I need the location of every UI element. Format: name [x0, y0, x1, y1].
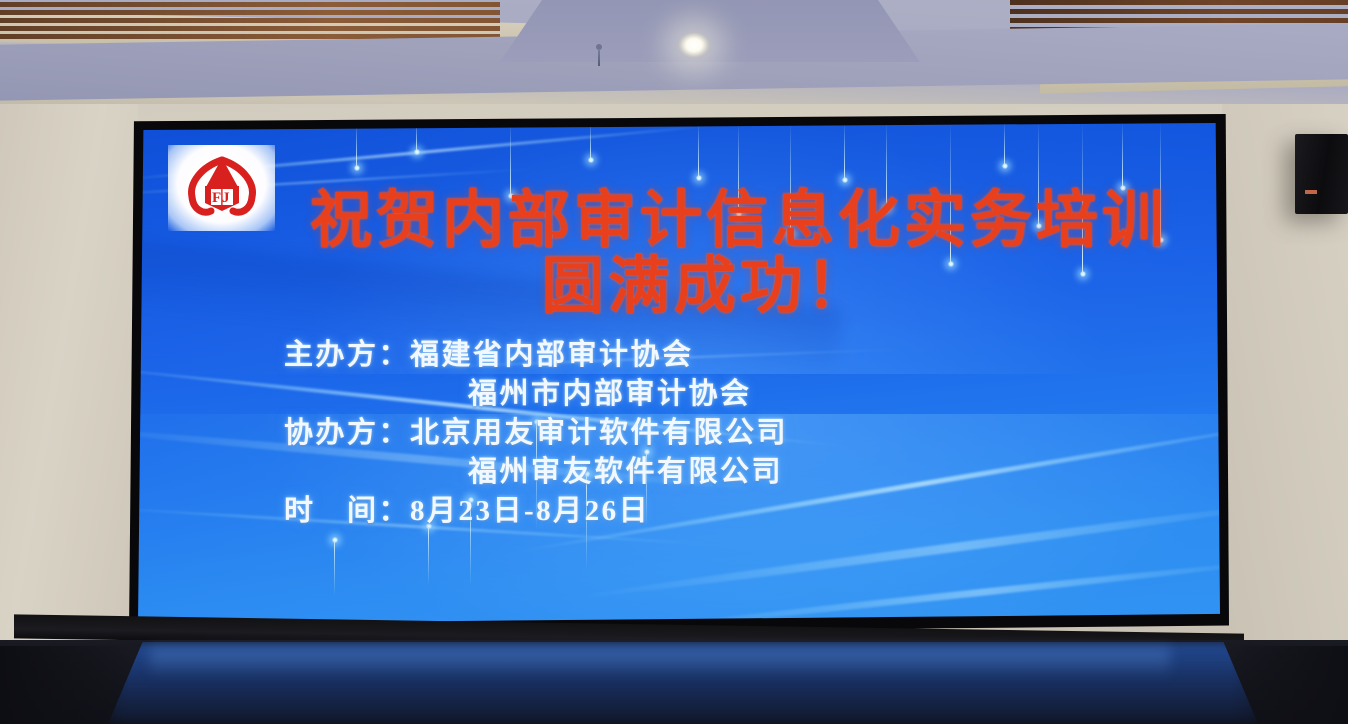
- headline-line-2: 圆满成功！: [138, 256, 1220, 320]
- ceiling-downlight-icon: [678, 32, 710, 58]
- detail-line-coorganizer-2: 福州审友软件有限公司: [138, 453, 1220, 492]
- detail-line-organizer: 主办方：福建省内部审计协会: [138, 336, 1220, 375]
- floor-shadow-left: [0, 646, 130, 724]
- led-screen-display: F J 祝贺内部审计信息化实务培训 圆满成功！ 主办方：福建省内部审计协会 福州…: [138, 122, 1220, 625]
- light-streak: [428, 526, 429, 586]
- light-streak: [1122, 122, 1123, 188]
- light-streak: [590, 122, 591, 160]
- detail-line-organizer-2: 福州市内部审计协会: [138, 375, 1220, 414]
- wall-speaker: [1295, 134, 1348, 214]
- banner-headline: 祝贺内部审计信息化实务培训 圆满成功！: [138, 190, 1220, 320]
- speaker-led-icon: [1305, 190, 1317, 194]
- banner-details: 主办方：福建省内部审计协会 福州市内部审计协会 协办方：北京用友审计软件有限公司…: [138, 336, 1220, 531]
- floor-shadow-right: [1230, 646, 1348, 724]
- headline-line-1: 祝贺内部审计信息化实务培训: [138, 190, 1220, 254]
- light-streak: [356, 122, 357, 168]
- ceiling-drop-panel: [500, 0, 920, 62]
- wall-panel-left: [0, 84, 138, 654]
- floor-sheen: [150, 648, 1170, 678]
- conference-hall-photo: F J 祝贺内部审计信息化实务培训 圆满成功！ 主办方：福建省内部审计协会 福州…: [0, 0, 1348, 724]
- ceiling-sprinkler-icon: [596, 44, 602, 66]
- light-streak: [416, 122, 417, 152]
- ceiling-wood-slats-left: [0, 0, 500, 40]
- detail-line-coorganizer: 协办方：北京用友审计软件有限公司: [138, 414, 1220, 453]
- detail-line-dates: 时 间：8月23日-8月26日: [138, 492, 1220, 531]
- light-streak: [1004, 122, 1005, 166]
- led-screen-bezel: F J 祝贺内部审计信息化实务培训 圆满成功！ 主办方：福建省内部审计协会 福州…: [129, 114, 1229, 636]
- light-streak: [334, 540, 335, 596]
- light-streak: [844, 122, 845, 180]
- light-streak: [510, 122, 511, 196]
- light-streak: [698, 122, 699, 178]
